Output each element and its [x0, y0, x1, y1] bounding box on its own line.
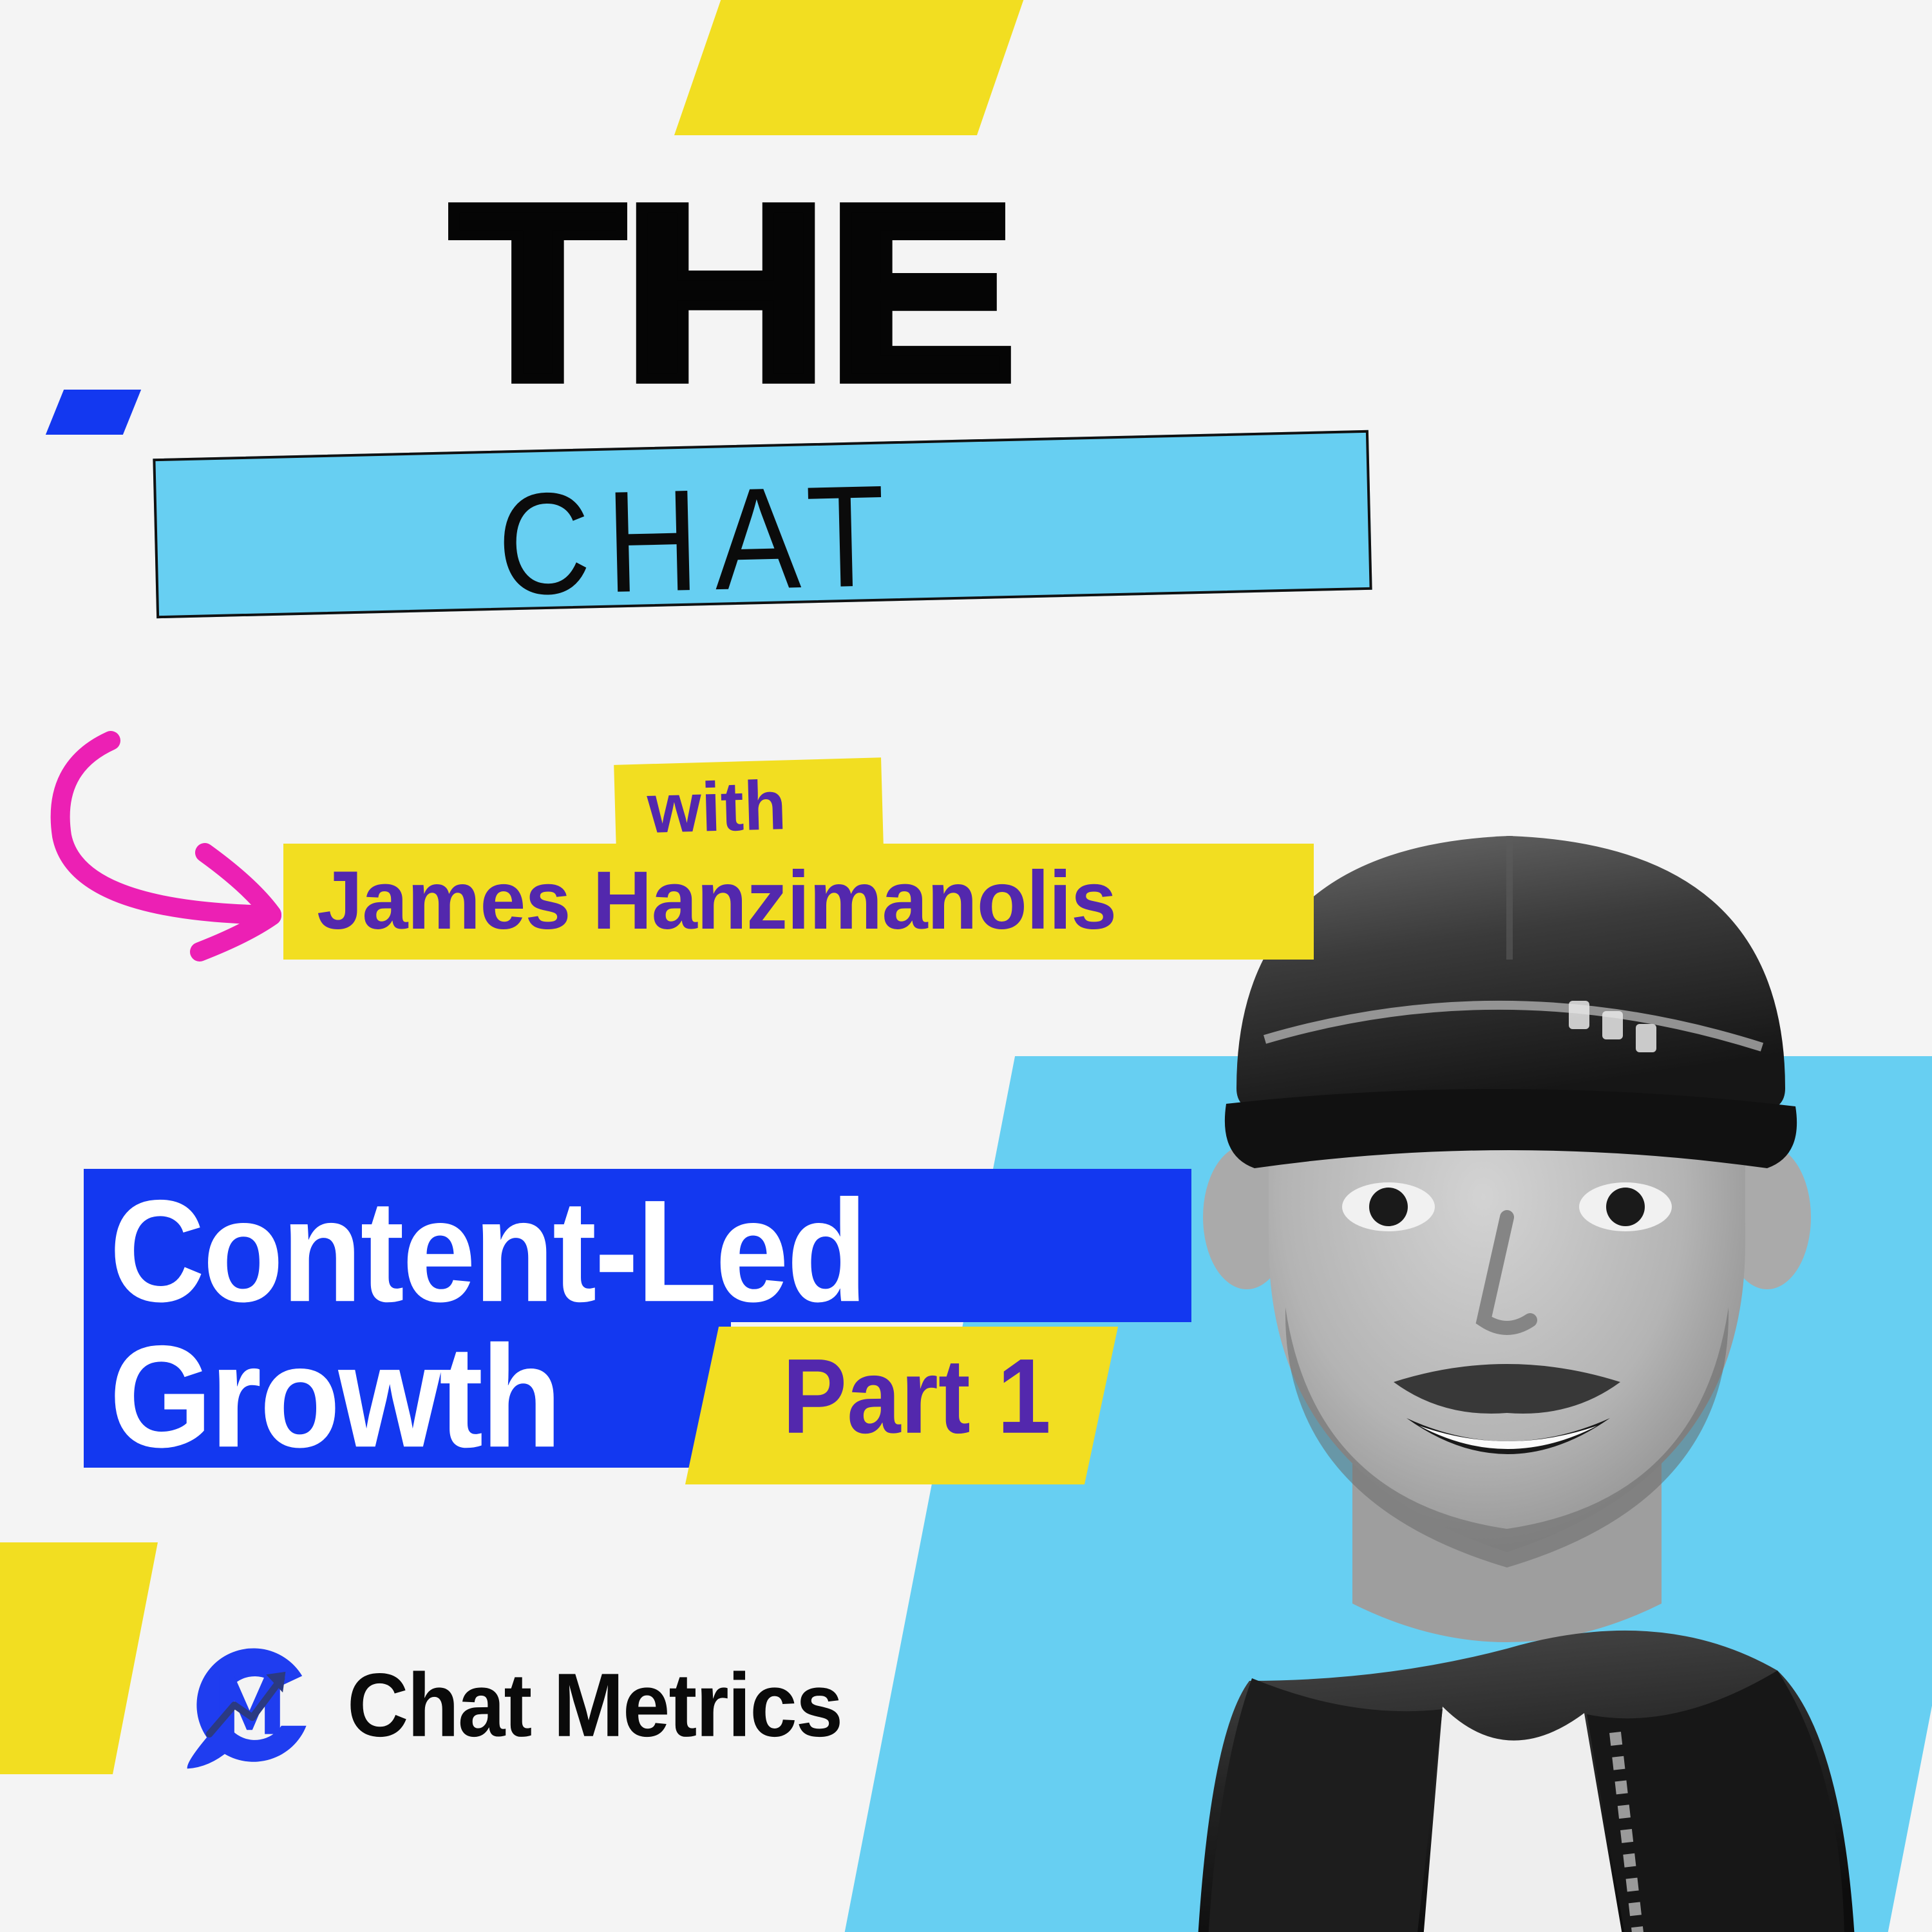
with-label: with	[646, 768, 787, 847]
page-title-the: THE	[451, 187, 1015, 401]
episode-title-line1: Content-Led	[109, 1179, 866, 1324]
cover-art-canvas: THE CHAT with James Hanzimanolis Content…	[0, 0, 1932, 1932]
brand-logo-text: Chat Metrics	[347, 1660, 842, 1750]
chat-metrics-logo-icon	[180, 1636, 319, 1774]
page-title-chat: CHAT	[496, 457, 1207, 618]
guest-name: James Hanzimanolis	[317, 853, 1116, 948]
brand-logo-lockup: Chat Metrics	[180, 1636, 842, 1774]
part-badge-label: Part 1	[782, 1343, 1051, 1449]
blue-parallelogram-left	[46, 390, 141, 435]
curved-arrow-icon	[39, 721, 322, 992]
yellow-parallelogram-top	[674, 0, 1032, 135]
episode-title-line2: Growth	[109, 1324, 560, 1470]
yellow-parallelogram-bottom-left	[0, 1542, 158, 1774]
